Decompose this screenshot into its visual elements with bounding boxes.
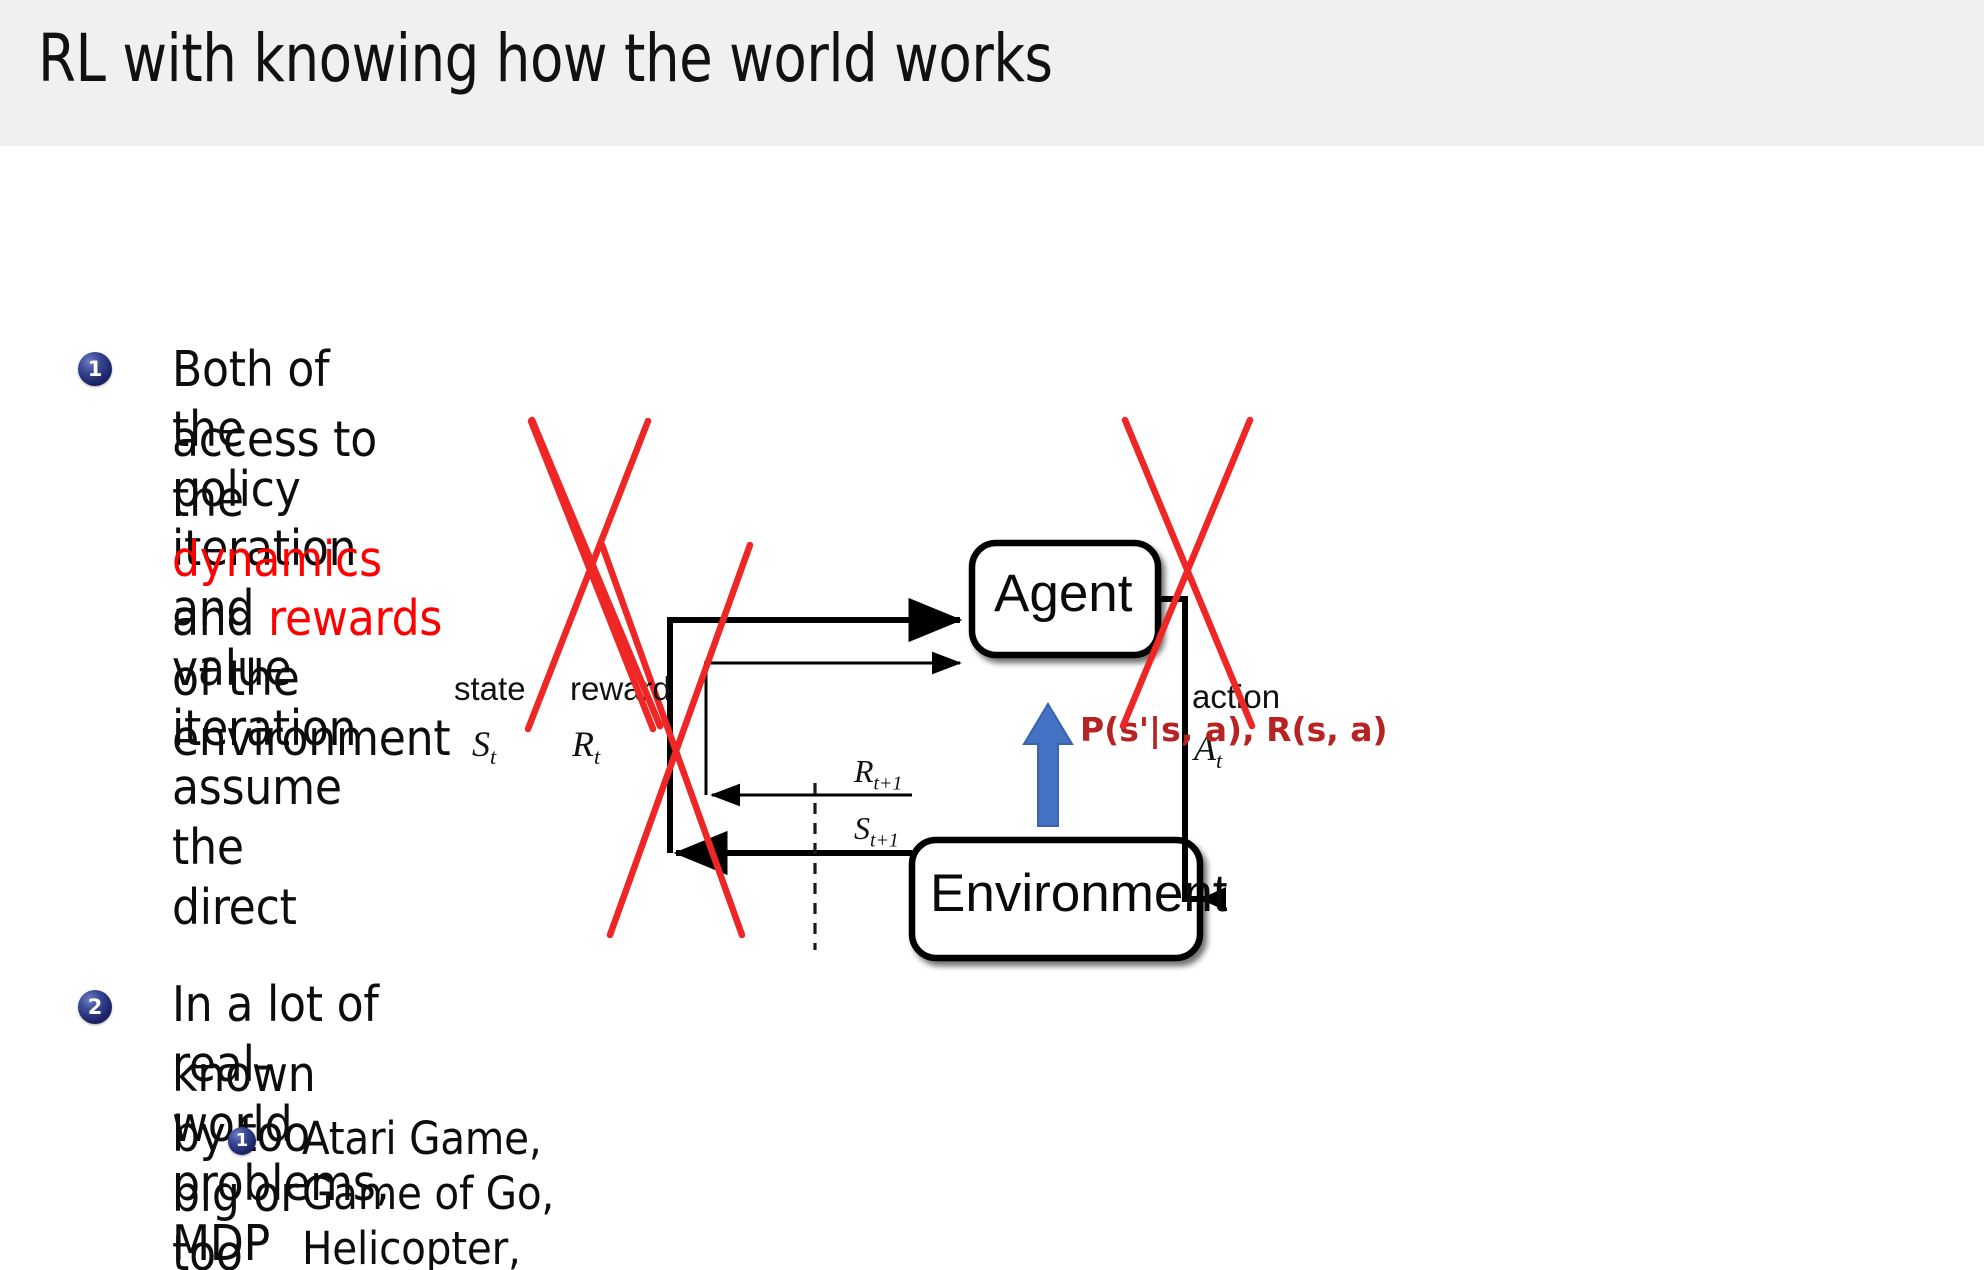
model-formula-annotation: P(s'|s, a), R(s, a) [1080, 710, 1388, 749]
state-next-sub: t+1 [870, 829, 899, 851]
state-next-symbol: St+1 [854, 810, 899, 852]
reward-symbol: Rt [572, 723, 600, 770]
highlight-dynamics: dynamics [172, 531, 382, 588]
agent-node-label: Agent [994, 563, 1133, 624]
state-label: state [454, 670, 526, 708]
page-title: RL with knowing how the world works [38, 20, 1053, 97]
reward-next-symbol: Rt+1 [854, 753, 902, 795]
formula-text: P(s'|s, a), R(s, a) [1080, 710, 1388, 749]
reward-label: reward [570, 670, 671, 708]
bullet-1-text-c: and [172, 590, 268, 647]
sub-bullet-marker-1: 1 [228, 1127, 256, 1155]
state-symbol-sub: t [490, 744, 496, 769]
state-next-base: S [854, 810, 870, 846]
action-symbol-sub: t [1216, 748, 1222, 773]
model-knowledge-arrow [1020, 700, 1080, 830]
highlight-rewards: rewards [268, 590, 442, 647]
reward-channel-path [704, 663, 960, 795]
reward-next-sub: t+1 [874, 772, 903, 794]
bullet-1-text-d: of the environment [172, 650, 450, 767]
reward-symbol-base: R [572, 724, 594, 764]
state-symbol: St [472, 723, 496, 770]
bullet-marker-2: 2 [78, 990, 112, 1024]
reward-symbol-sub: t [594, 744, 600, 769]
reward-next-base: R [854, 753, 874, 789]
title-band: RL with knowing how the world works [0, 0, 1984, 146]
bullet-marker-1: 1 [78, 352, 112, 386]
state-symbol-base: S [472, 724, 490, 764]
sub-bullet-line-1: Atari Game, Game of Go, Helicopter, Port… [302, 1112, 584, 1270]
cross-out-state-reward [602, 545, 750, 935]
environment-node-label: Environment [930, 863, 1228, 924]
bullet-1-text-b: access to the [172, 411, 377, 528]
agent-environment-diagram: state St reward Rt Rt+1 St+1 Agent Envir… [520, 495, 1320, 975]
slide: RL with knowing how the world works 1 Bo… [0, 0, 1984, 1270]
bullet-1-line-2: access to the dynamics and rewards of th… [172, 410, 450, 769]
